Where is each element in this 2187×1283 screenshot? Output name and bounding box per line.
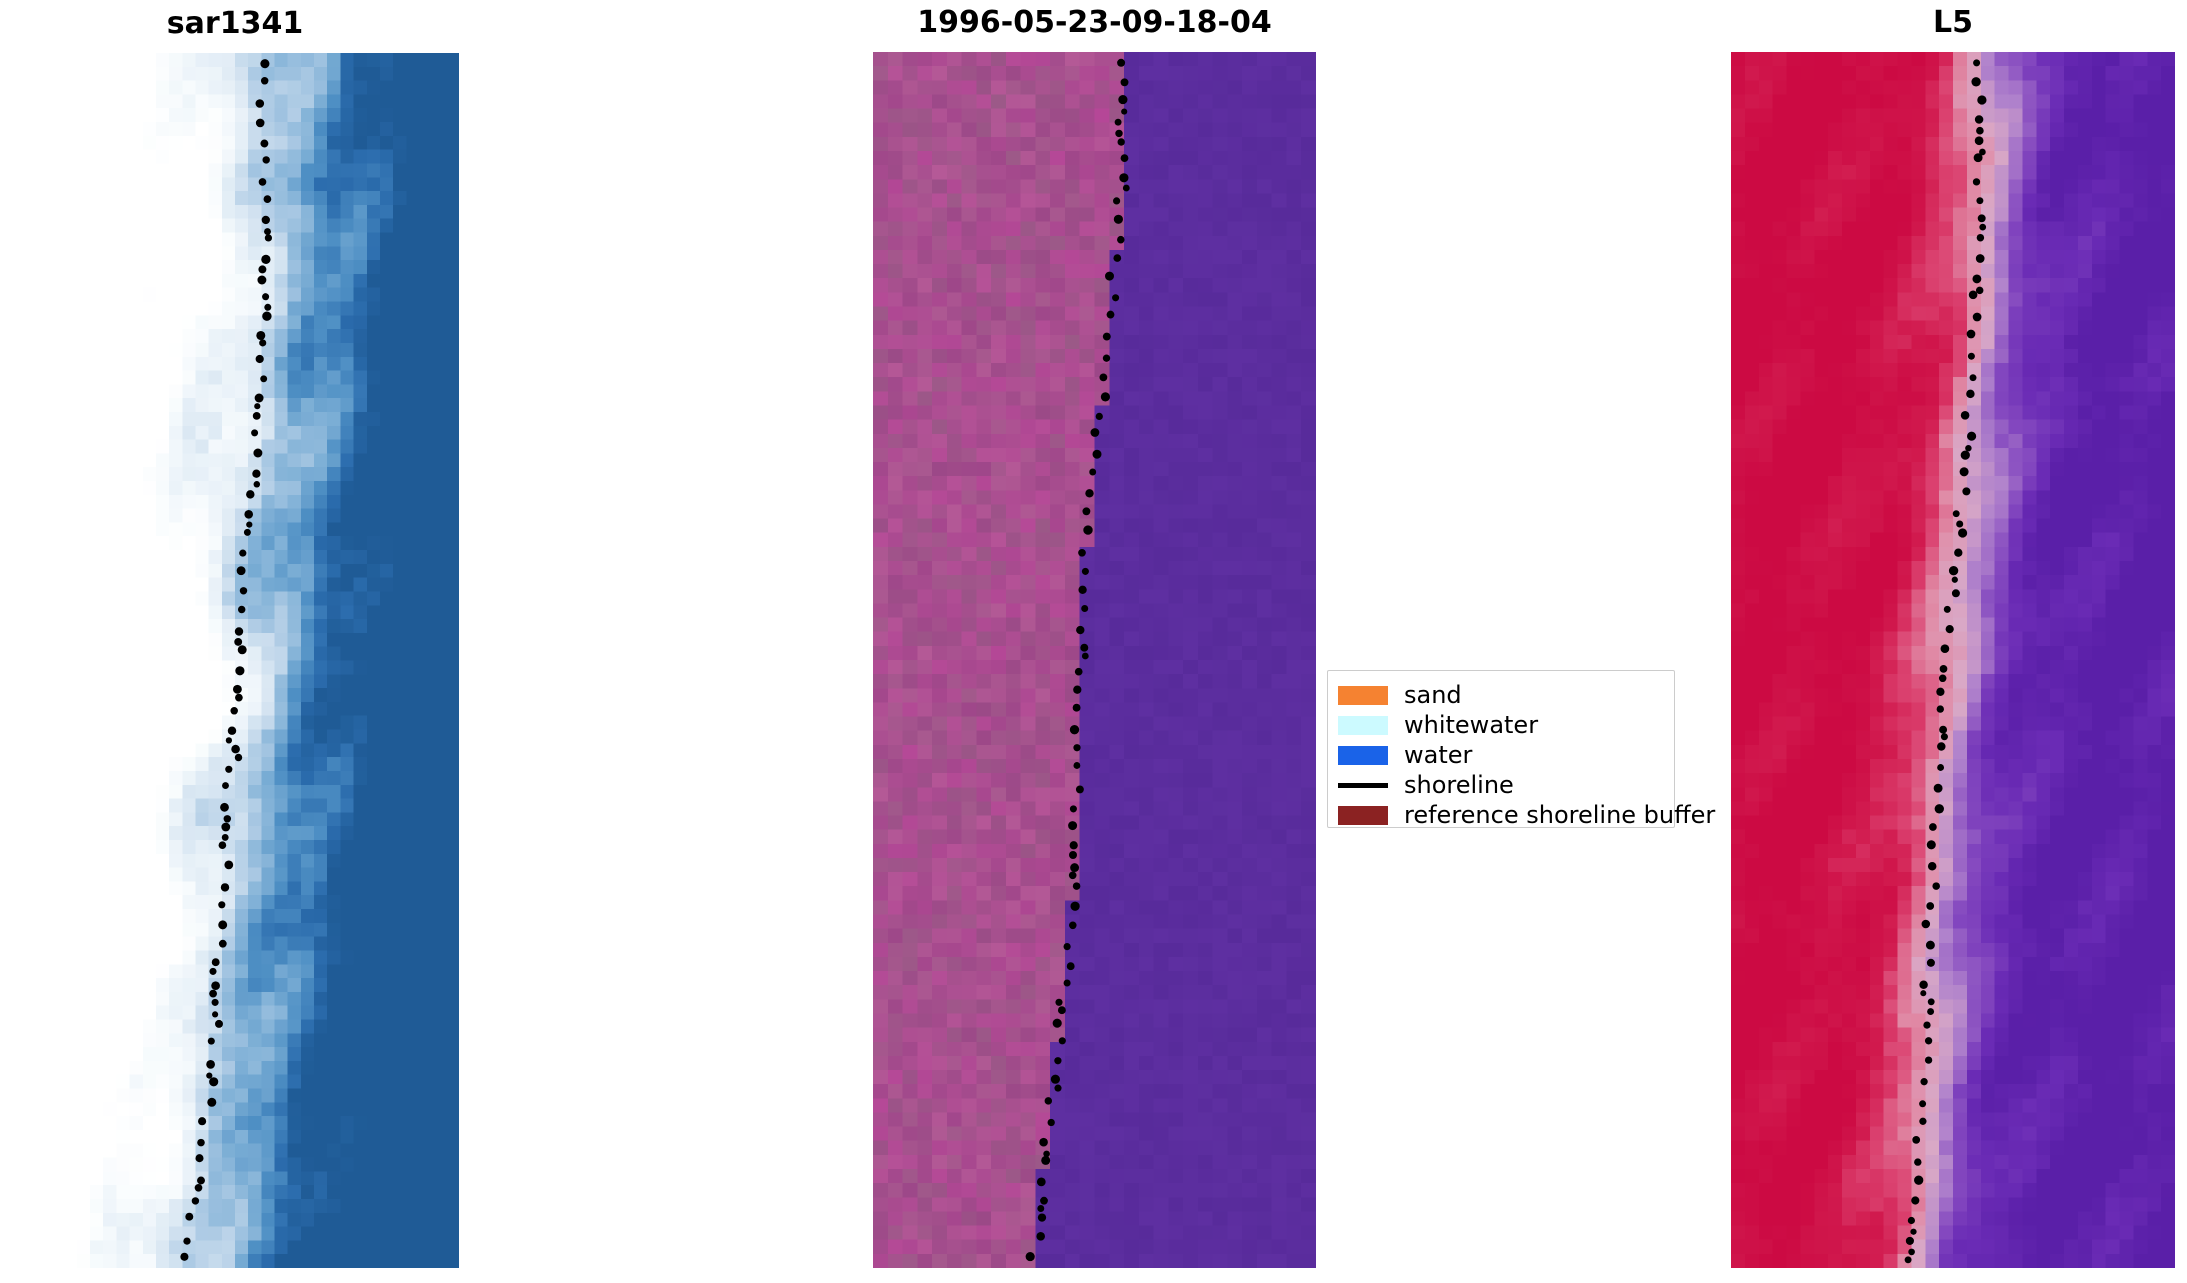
l5-image: [1731, 52, 2175, 1268]
legend-item-sand: sand: [1338, 680, 1663, 710]
panel-classified: [873, 52, 1316, 1268]
legend-item-water: water: [1338, 740, 1663, 770]
legend-item-shoreline: shoreline: [1338, 770, 1663, 800]
panel-sar1341: [11, 53, 459, 1268]
legend-box: sand whitewater water shoreline referenc…: [1327, 670, 1675, 828]
sar-image: [11, 53, 459, 1268]
legend-swatch-reference-buffer: [1338, 806, 1388, 825]
figure-canvas: sar1341 1996-05-23-09-18-04 L5 sand whit…: [0, 0, 2187, 1283]
legend-item-reference-buffer: reference shoreline buffer: [1338, 800, 1663, 830]
legend-swatch-shoreline: [1338, 783, 1388, 788]
panel-title-date: 1996-05-23-09-18-04: [873, 5, 1316, 40]
legend-item-whitewater: whitewater: [1338, 710, 1663, 740]
legend-swatch-sand: [1338, 686, 1388, 705]
panel-l5: [1731, 52, 2175, 1268]
panel-title-sar1341: sar1341: [11, 6, 459, 41]
panel-title-l5: L5: [1731, 5, 2175, 40]
legend-label-water: water: [1404, 743, 1472, 767]
legend-swatch-whitewater: [1338, 716, 1388, 735]
legend-label-shoreline: shoreline: [1404, 773, 1514, 797]
classified-image: [873, 52, 1316, 1268]
legend-label-whitewater: whitewater: [1404, 713, 1538, 737]
legend-label-reference-buffer: reference shoreline buffer: [1404, 803, 1715, 827]
legend-label-sand: sand: [1404, 683, 1462, 707]
legend-swatch-water: [1338, 746, 1388, 765]
